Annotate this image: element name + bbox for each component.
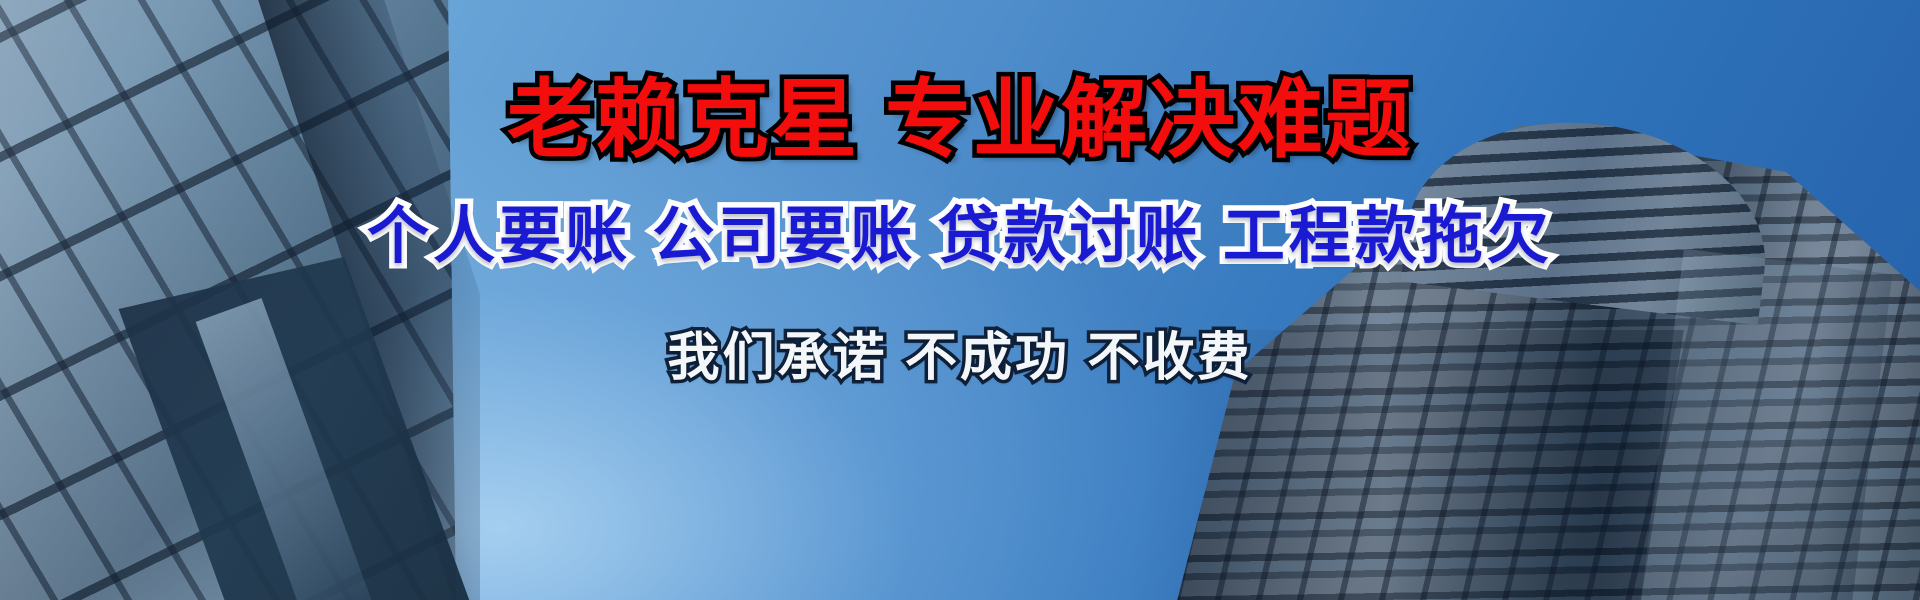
promo-banner: 老赖克星 专业解决难题 个人要账 公司要账 贷款讨账 工程款拖欠 我们承诺 不成… [0,0,1920,600]
services-text: 个人要账 公司要账 贷款讨账 工程款拖欠 [367,203,1553,271]
promise-text: 我们承诺 不成功 不收费 [668,315,1253,390]
banner-text-stack: 老赖克星 专业解决难题 个人要账 公司要账 贷款讨账 工程款拖欠 我们承诺 不成… [0,0,1920,600]
headline-text: 老赖克星 专业解决难题 [507,74,1413,167]
